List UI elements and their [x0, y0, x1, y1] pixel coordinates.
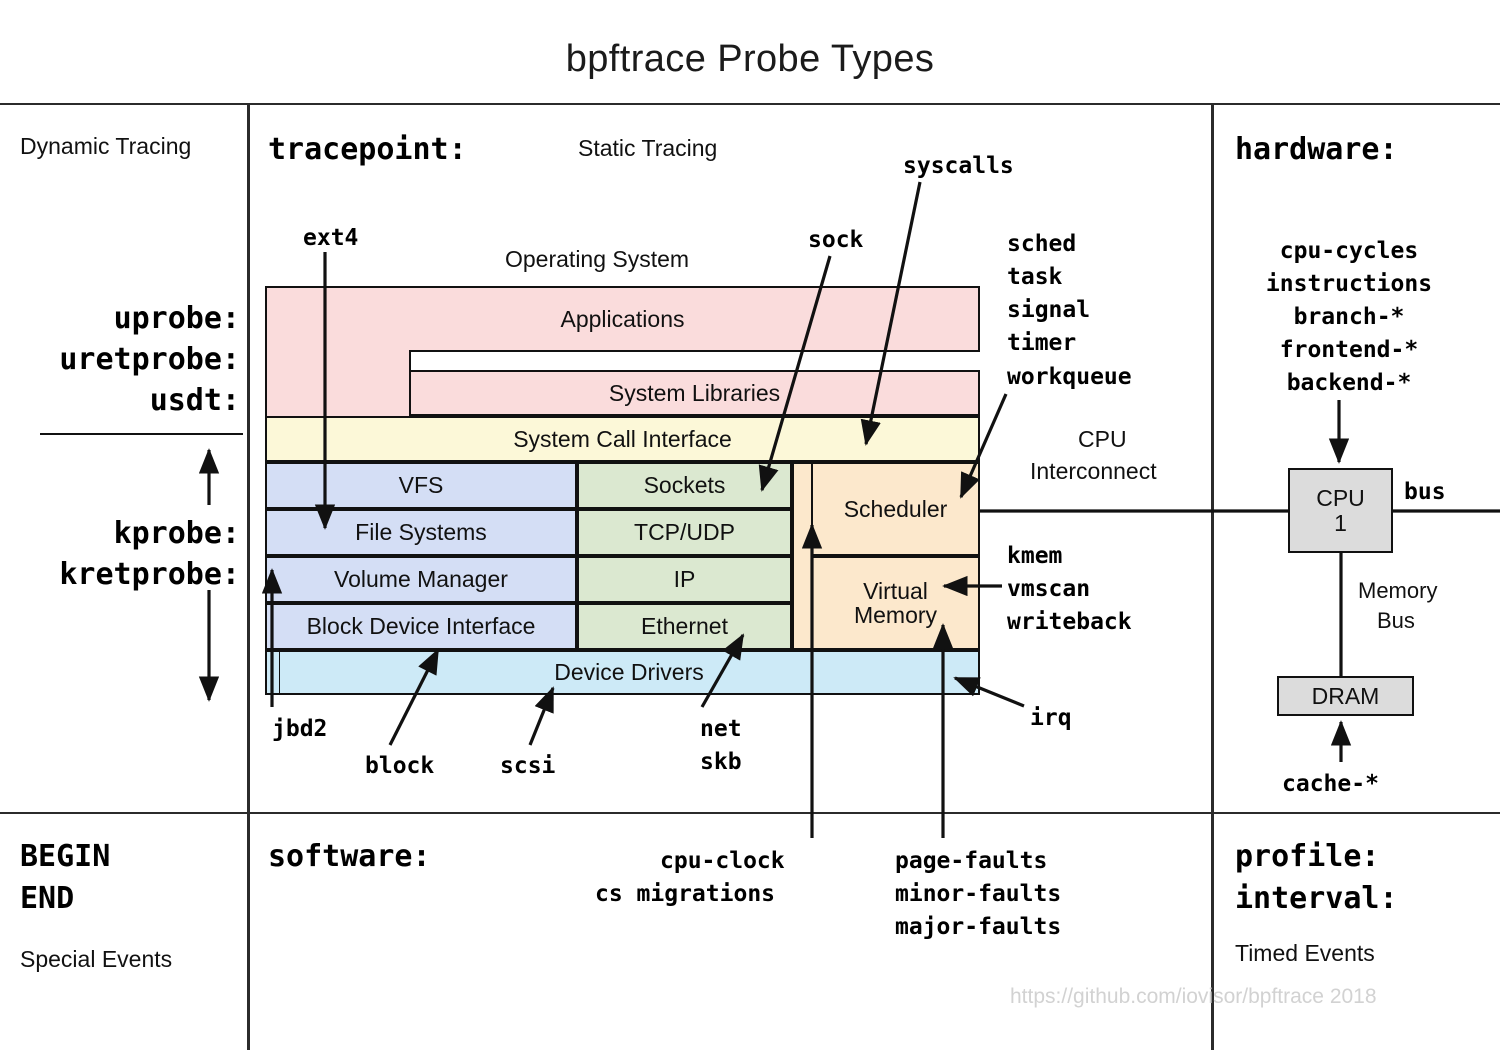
scheduler-box: Scheduler — [811, 462, 980, 556]
hw-event-backend[interactable]: backend-* — [1214, 367, 1484, 399]
stack-left-margin-strip — [265, 650, 279, 695]
kprobe-label[interactable]: kprobe: — [0, 515, 240, 553]
special-events-caption: Special Events — [20, 946, 172, 973]
end-label[interactable]: END — [20, 880, 74, 918]
cpu-box-line1: CPU — [1316, 486, 1365, 510]
cpu-box-line2: 1 — [1334, 511, 1347, 535]
timed-events-caption: Timed Events — [1235, 940, 1375, 967]
block-annotation[interactable]: block — [365, 750, 434, 782]
cpu-box: CPU 1 — [1288, 468, 1393, 553]
software-label[interactable]: software: — [268, 838, 431, 876]
diagram-canvas: bpftrace Probe Types Dynamic Tracing upr… — [0, 0, 1500, 1050]
system-call-interface-box: System Call Interface — [265, 416, 980, 462]
cpu-interconnect-line2: Interconnect — [1030, 458, 1157, 485]
virtual-memory-line1: Virtual — [863, 579, 928, 603]
workqueue-annotation[interactable]: workqueue — [1007, 361, 1132, 393]
timer-annotation[interactable]: timer — [1007, 327, 1076, 359]
kmem-annotation[interactable]: kmem — [1007, 540, 1062, 572]
scsi-arrow — [530, 688, 553, 745]
page-title: bpftrace Probe Types — [0, 38, 1500, 81]
hw-event-instructions[interactable]: instructions — [1214, 268, 1484, 300]
cs-migrations-label[interactable]: cs migrations — [595, 878, 775, 910]
minor-faults-label[interactable]: minor-faults — [895, 878, 1061, 910]
bus-label: bus — [1404, 476, 1446, 508]
syscalls-annotation[interactable]: syscalls — [903, 150, 1014, 182]
operating-system-label: Operating System — [505, 246, 689, 273]
frame-bottom-border — [0, 812, 1500, 814]
virtual-memory-line2: Memory — [854, 603, 937, 627]
memory-bus-line1: Memory — [1358, 578, 1437, 604]
block-device-interface-box: Block Device Interface — [265, 603, 577, 650]
net-annotation[interactable]: net — [700, 713, 742, 745]
frame-divider-left — [247, 103, 250, 1050]
applications-lower-left-fill — [265, 350, 411, 418]
static-tracing-caption: Static Tracing — [578, 135, 717, 162]
task-annotation[interactable]: task — [1007, 261, 1062, 293]
system-libraries-box: System Libraries — [409, 370, 980, 416]
uprobe-label[interactable]: uprobe: — [0, 300, 240, 338]
interval-label[interactable]: interval: — [1235, 880, 1398, 918]
page-faults-label[interactable]: page-faults — [895, 845, 1047, 877]
hw-event-frontend[interactable]: frontend-* — [1214, 334, 1484, 366]
major-faults-label[interactable]: major-faults — [895, 911, 1061, 943]
cpu-interconnect-line1: CPU — [1078, 426, 1127, 453]
volume-manager-box: Volume Manager — [265, 556, 577, 603]
profile-label[interactable]: profile: — [1235, 838, 1380, 876]
user-kernel-separator — [40, 433, 243, 435]
vmscan-annotation[interactable]: vmscan — [1007, 573, 1090, 605]
sched-annotation[interactable]: sched — [1007, 228, 1076, 260]
applications-box: Applications — [265, 286, 980, 352]
dynamic-tracing-caption: Dynamic Tracing — [20, 133, 191, 160]
hw-event-cpu-cycles[interactable]: cpu-cycles — [1214, 235, 1484, 267]
hw-event-branch[interactable]: branch-* — [1214, 301, 1484, 333]
watermark-url: https://github.com/iovisor/bpftrace 2018 — [1010, 985, 1377, 1009]
hardware-label[interactable]: hardware: — [1235, 131, 1398, 169]
ext4-annotation[interactable]: ext4 — [303, 222, 358, 254]
virtual-memory-box: Virtual Memory — [811, 556, 980, 650]
vfs-box: VFS — [265, 462, 577, 509]
begin-label[interactable]: BEGIN — [20, 838, 110, 876]
skb-annotation[interactable]: skb — [700, 746, 742, 778]
ethernet-box: Ethernet — [577, 603, 792, 650]
tracepoint-label[interactable]: tracepoint: — [268, 131, 467, 169]
signal-annotation[interactable]: signal — [1007, 294, 1090, 326]
irq-annotation[interactable]: irq — [1030, 702, 1072, 734]
sock-annotation[interactable]: sock — [808, 224, 863, 256]
ip-box: IP — [577, 556, 792, 603]
cpu-clock-label[interactable]: cpu-clock — [660, 845, 785, 877]
file-systems-box: File Systems — [265, 509, 577, 556]
scsi-annotation[interactable]: scsi — [500, 750, 555, 782]
frame-top-border — [0, 103, 1500, 105]
kretprobe-label[interactable]: kretprobe: — [0, 556, 240, 594]
sockets-box: Sockets — [577, 462, 792, 509]
device-drivers-box: Device Drivers — [278, 650, 980, 695]
writeback-annotation[interactable]: writeback — [1007, 606, 1132, 638]
tcp-udp-box: TCP/UDP — [577, 509, 792, 556]
usdt-label[interactable]: usdt: — [0, 382, 240, 420]
jbd2-annotation[interactable]: jbd2 — [272, 713, 327, 745]
cache-label[interactable]: cache-* — [1282, 768, 1379, 800]
uretprobe-label[interactable]: uretprobe: — [0, 341, 240, 379]
dram-box: DRAM — [1277, 676, 1414, 716]
memory-bus-line2: Bus — [1377, 608, 1415, 634]
